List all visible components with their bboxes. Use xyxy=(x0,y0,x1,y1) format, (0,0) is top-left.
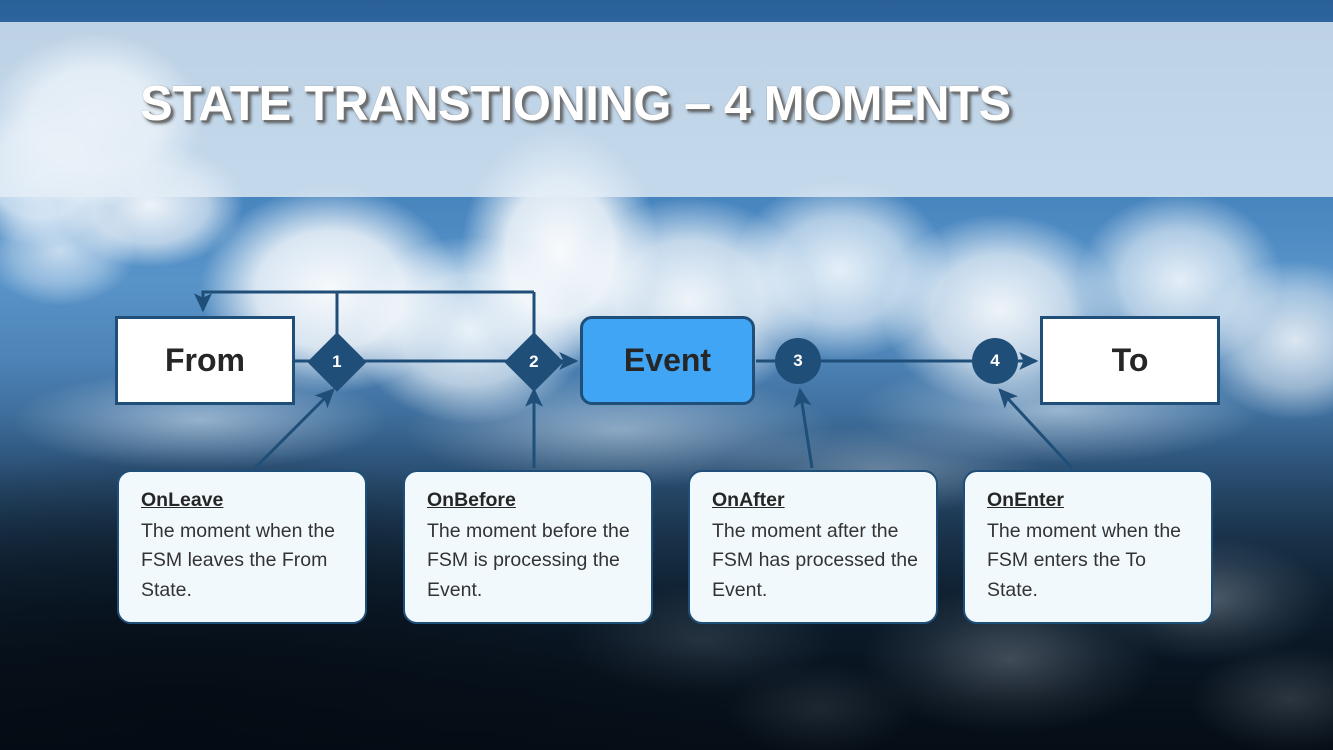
state-node-event[interactable]: Event xyxy=(580,316,755,405)
callout-onafter-body: The moment after the FSM has processed t… xyxy=(712,517,920,606)
callout-onafter[interactable]: OnAfter The moment after the FSM has pro… xyxy=(688,470,938,624)
state-node-to[interactable]: To xyxy=(1040,316,1220,405)
moment-marker-3[interactable]: 3 xyxy=(775,338,821,384)
state-transition-diagram: From Event To 1 2 3 4 OnLeave The moment… xyxy=(0,0,1333,750)
callout-onenter-title: OnEnter xyxy=(987,486,1064,516)
callout-onenter-body: The moment when the FSM enters the To St… xyxy=(987,517,1195,606)
state-node-to-label: To xyxy=(1112,342,1149,379)
edge-loopback-rail xyxy=(203,292,534,310)
leader-onafter-to-marker3 xyxy=(800,390,812,468)
callout-onbefore-title: OnBefore xyxy=(427,486,516,516)
callout-onleave[interactable]: OnLeave The moment when the FSM leaves t… xyxy=(117,470,367,624)
callout-onleave-title: OnLeave xyxy=(141,486,223,516)
callout-onleave-body: The moment when the FSM leaves the From … xyxy=(141,517,349,606)
moment-marker-1-label: 1 xyxy=(332,352,341,372)
state-node-event-label: Event xyxy=(624,342,711,379)
callout-onbefore[interactable]: OnBefore The moment before the FSM is pr… xyxy=(403,470,653,624)
callout-onafter-title: OnAfter xyxy=(712,486,785,516)
moment-marker-4-label: 4 xyxy=(990,351,999,371)
moment-marker-2-label: 2 xyxy=(529,352,538,372)
callout-onbefore-body: The moment before the FSM is processing … xyxy=(427,517,635,606)
state-node-from-label: From xyxy=(165,342,245,379)
moment-marker-4[interactable]: 4 xyxy=(972,338,1018,384)
presentation-slide: STATE TRANSTIONING – 4 MOMENTS xyxy=(0,0,1333,750)
callout-onenter[interactable]: OnEnter The moment when the FSM enters t… xyxy=(963,470,1213,624)
state-node-from[interactable]: From xyxy=(115,316,295,405)
moment-marker-3-label: 3 xyxy=(793,351,802,371)
